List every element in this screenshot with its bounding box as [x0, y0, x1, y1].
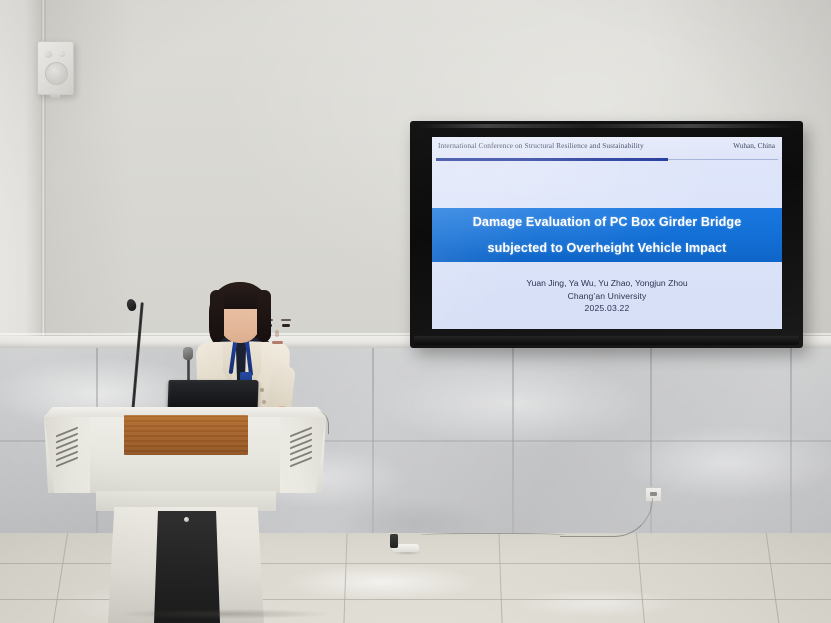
speaker-tweeter	[59, 51, 65, 57]
mouth	[272, 341, 283, 344]
lectern-wood-panel	[124, 415, 248, 455]
slide-title-band: Damage Evaluation of PC Box Girder Bridg…	[432, 208, 782, 262]
display-bezel-highlight	[418, 124, 795, 128]
slide-header-conference-title: International Conference on Structural R…	[438, 141, 644, 150]
eyebrow-right	[281, 319, 291, 321]
lectern-vent-left	[56, 431, 78, 475]
slide-date: 2025.03.22	[432, 302, 782, 315]
nose	[275, 330, 279, 337]
slide-header-rule-thin	[668, 159, 778, 160]
presentation-slide: International Conference on Structural R…	[432, 137, 782, 329]
eye-right	[282, 324, 290, 327]
slide-authors: Yuan Jing, Ya Wu, Yu Zhao, Yongjun Zhou	[432, 277, 782, 290]
slide-title-line-2: subjected to Overheight Vehicle Impact	[488, 235, 727, 261]
slide-byline: Yuan Jing, Ya Wu, Yu Zhao, Yongjun Zhou …	[432, 277, 782, 315]
display-bottom-bezel	[414, 336, 799, 345]
lectern-vent-right	[290, 431, 312, 475]
blazer-button	[262, 400, 266, 404]
power-cable-floor-run	[420, 533, 565, 538]
presentation-room-photo: International Conference on Structural R…	[0, 0, 831, 623]
speaker-woofer	[45, 62, 68, 85]
outlet-socket-slot	[650, 492, 657, 496]
wall-speaker-icon	[37, 41, 74, 95]
wood-grain-texture	[124, 415, 248, 455]
speaker-bracket	[50, 92, 60, 98]
slide-header-location: Wuhan, China	[733, 141, 775, 150]
speaker-tweeter	[45, 51, 52, 58]
slide-header-rule	[436, 158, 668, 161]
blazer-button	[260, 388, 264, 392]
wall-display[interactable]: International Conference on Structural R…	[410, 121, 803, 348]
hair-side-right	[257, 290, 271, 342]
slide-affiliation: Chang’an University	[432, 290, 782, 303]
lectern	[44, 407, 326, 623]
lectern-indicator-light	[184, 517, 189, 522]
hair-side-left	[210, 290, 224, 342]
slide-title-line-1: Damage Evaluation of PC Box Girder Bridg…	[473, 209, 742, 235]
lectern-floor-shadow	[74, 607, 374, 621]
floor-object-dark	[390, 534, 398, 548]
